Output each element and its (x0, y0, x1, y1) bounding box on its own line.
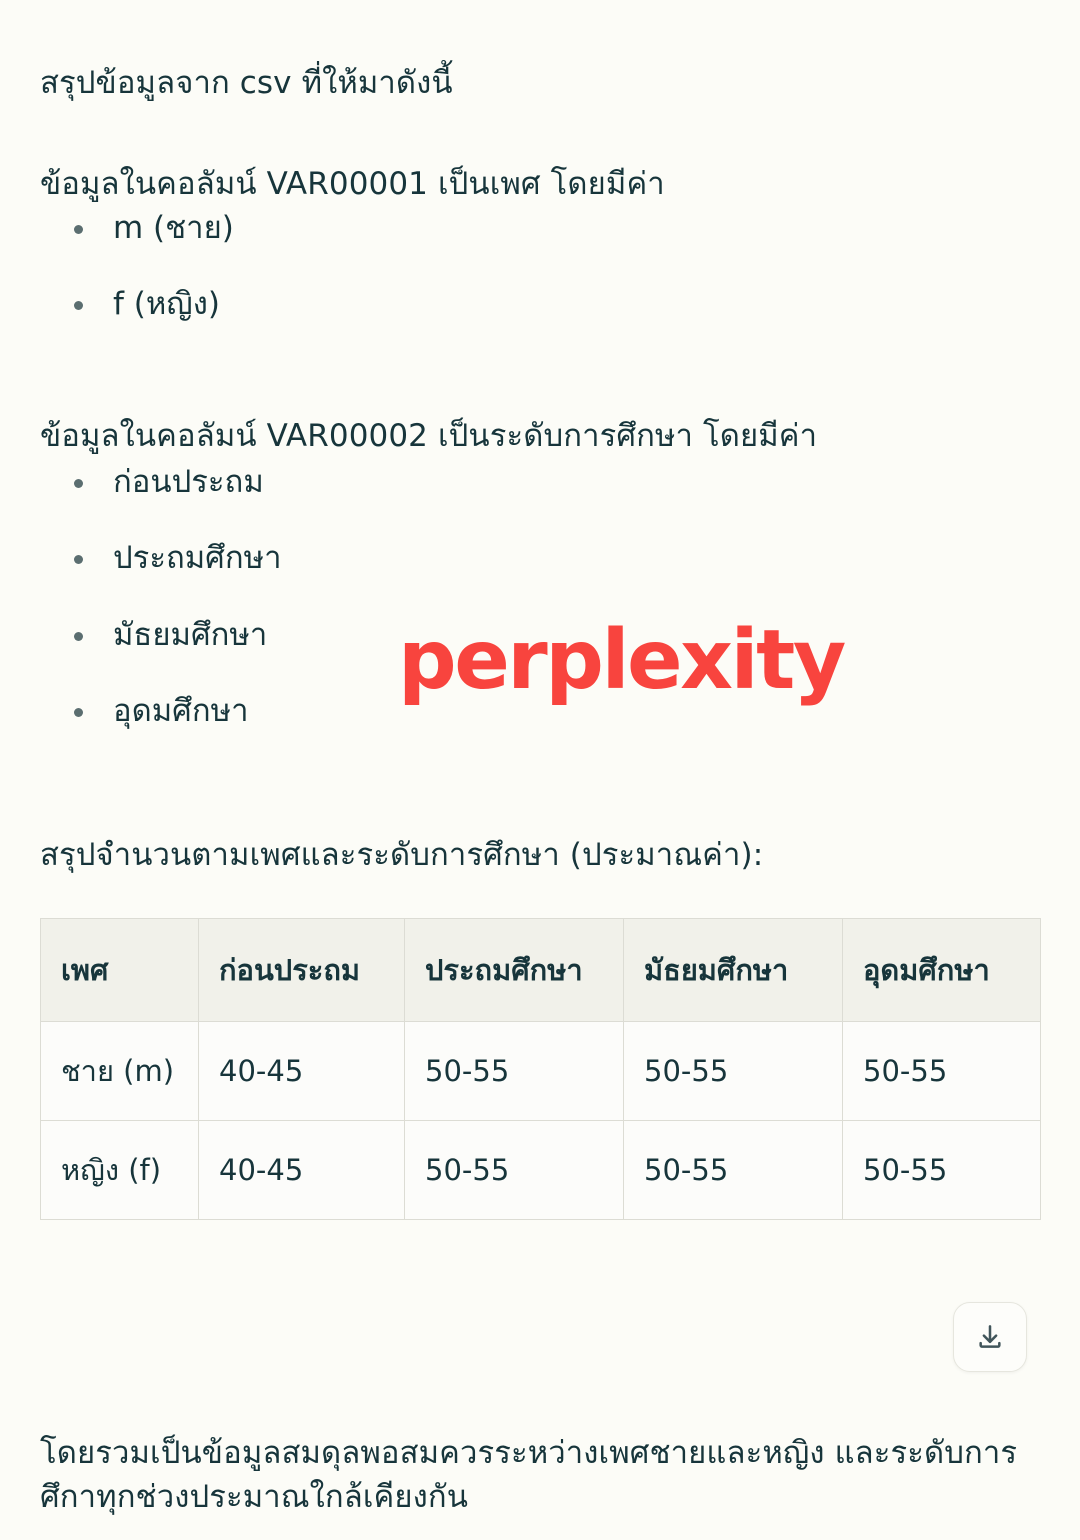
list-item-label: มัธยมศึกษา (113, 617, 267, 653)
column-header-primary: ประถมศึกษา (405, 919, 624, 1022)
bullet-dot-icon (74, 225, 83, 234)
table-header-row: เพศ ก่อนประถม ประถมศึกษา มัธยมศึกษา อุดม… (41, 919, 1041, 1022)
list-item: ประถมศึกษา (40, 538, 1040, 578)
cell-value: 40-45 (199, 1121, 405, 1220)
table-row: ชาย (m) 40-45 50-55 50-55 50-55 (41, 1022, 1041, 1121)
cell-value: 50-55 (624, 1022, 843, 1121)
perplexity-watermark: perplexity (398, 620, 844, 702)
cell-value: 50-55 (843, 1022, 1041, 1121)
list-item-label: อุดมศึกษา (113, 693, 248, 729)
bullet-dot-icon (74, 479, 83, 488)
var00002-heading: ข้อมูลในคอลัมน์ VAR00002 เป็นระดับการศึก… (40, 414, 1040, 459)
summary-table: เพศ ก่อนประถม ประถมศึกษา มัธยมศึกษา อุดม… (40, 918, 1041, 1220)
list-item: ก่อนประถม (40, 462, 1040, 502)
column-header-secondary: มัธยมศึกษา (624, 919, 843, 1022)
cell-value: 40-45 (199, 1022, 405, 1121)
list-item-label: ก่อนประถม (113, 464, 264, 500)
gender-values-list: m (ชาย) f (หญิง) (40, 208, 1040, 325)
var00001-heading: ข้อมูลในคอลัมน์ VAR00001 เป็นเพศ โดยมีค่… (40, 162, 1040, 207)
table-row: หญิง (f) 40-45 50-55 50-55 50-55 (41, 1121, 1041, 1220)
bullet-dot-icon (74, 708, 83, 717)
column-header-gender: เพศ (41, 919, 199, 1022)
list-item-label: f (หญิง) (113, 286, 220, 322)
cell-gender: ชาย (m) (41, 1022, 199, 1121)
table-head: เพศ ก่อนประถม ประถมศึกษา มัธยมศึกษา อุดม… (41, 919, 1041, 1022)
table-body: ชาย (m) 40-45 50-55 50-55 50-55 หญิง (f)… (41, 1022, 1041, 1220)
closing-paragraph: โดยรวมเป็นข้อมูลสมดุลพอสมควรระหว่างเพศชา… (40, 1431, 1040, 1519)
summary-table-container: เพศ ก่อนประถม ประถมศึกษา มัธยมศึกษา อุดม… (40, 918, 1040, 1220)
list-item-label: m (ชาย) (113, 210, 234, 246)
intro-paragraph: สรุปข้อมูลจาก csv ที่ให้มาดังนี้ (40, 61, 1040, 106)
column-header-tertiary: อุดมศึกษา (843, 919, 1041, 1022)
bullet-dot-icon (74, 301, 83, 310)
cell-value: 50-55 (405, 1121, 624, 1220)
summary-heading: สรุปจำนวนตามเพศและระดับการศึกษา (ประมาณค… (40, 833, 1040, 878)
download-icon (974, 1321, 1006, 1353)
list-item-label: ประถมศึกษา (113, 540, 281, 576)
cell-value: 50-55 (405, 1022, 624, 1121)
cell-value: 50-55 (843, 1121, 1041, 1220)
list-item: m (ชาย) (40, 208, 1040, 248)
column-header-preprimary: ก่อนประถม (199, 919, 405, 1022)
bullet-dot-icon (74, 555, 83, 564)
cell-value: 50-55 (624, 1121, 843, 1220)
bullet-dot-icon (74, 632, 83, 641)
list-item: f (หญิง) (40, 284, 1040, 324)
cell-gender: หญิง (f) (41, 1121, 199, 1220)
download-table-button[interactable] (953, 1302, 1027, 1372)
answer-body: สรุปข้อมูลจาก csv ที่ให้มาดังนี้ ข้อมูลใ… (0, 0, 1080, 1540)
